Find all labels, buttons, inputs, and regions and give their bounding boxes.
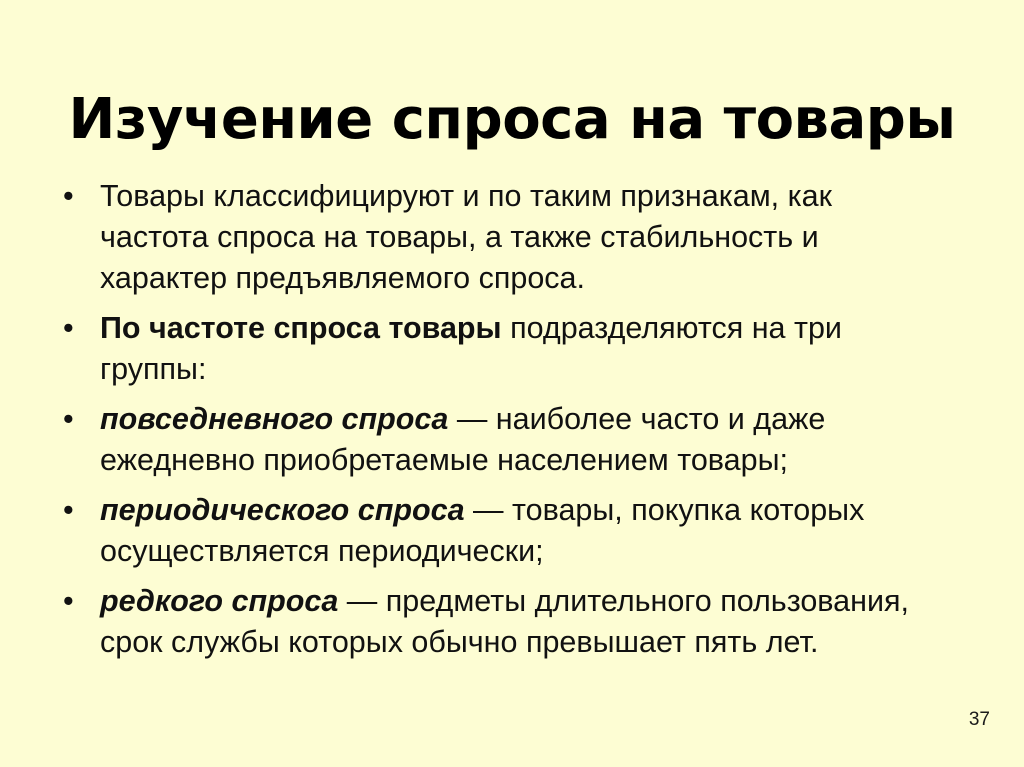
list-item: •Товары классифицируют и по таким призна… bbox=[52, 176, 942, 299]
bullet-list: •Товары классифицируют и по таким призна… bbox=[52, 176, 942, 663]
list-item-text: периодического спроса — товары, покупка … bbox=[100, 490, 942, 572]
page-number: 37 bbox=[969, 710, 990, 729]
list-item-description: Товары классифицируют и по таким признак… bbox=[100, 179, 832, 295]
bullet-point-icon: • bbox=[63, 308, 83, 349]
list-item: •периодического спроса — товары, покупка… bbox=[52, 490, 942, 572]
list-item: •редкого спроса — предметы длительного п… bbox=[52, 581, 942, 663]
list-item-text: По частоте спроса товары подразделяются … bbox=[100, 308, 942, 390]
list-item-text: редкого спроса — предметы длительного по… bbox=[100, 581, 942, 663]
bullet-point-icon: • bbox=[63, 399, 83, 440]
list-item-text: Товары классифицируют и по таким признак… bbox=[100, 176, 942, 299]
list-item: •повседневного спроса — наиболее часто и… bbox=[52, 399, 942, 481]
bullet-point-icon: • bbox=[63, 490, 83, 531]
presentation-slide: Изучение спроса на товары •Товары класси… bbox=[0, 0, 1024, 767]
list-item-term: периодического спроса bbox=[100, 493, 465, 527]
bullet-point-icon: • bbox=[63, 176, 83, 217]
list-item-term: редкого спроса bbox=[100, 584, 338, 618]
bullet-point-icon: • bbox=[63, 581, 83, 622]
list-item-term: По частоте спроса товары bbox=[100, 311, 502, 345]
list-item-text: повседневного спроса — наиболее часто и … bbox=[100, 399, 942, 481]
page-title: Изучение спроса на товары bbox=[48, 90, 976, 150]
list-item: •По частоте спроса товары подразделяются… bbox=[52, 308, 942, 390]
list-item-term: повседневного спроса bbox=[100, 402, 448, 436]
